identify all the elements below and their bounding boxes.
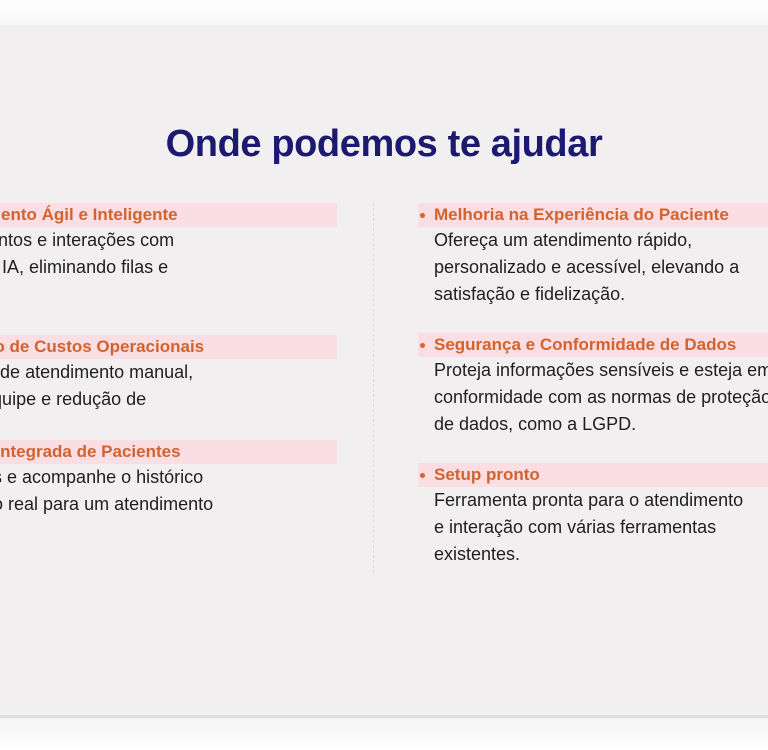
list-item: Segurança e Conformidade de Dados Protej… xyxy=(418,333,768,438)
page-bottom-edge xyxy=(0,718,768,750)
page-top-edge xyxy=(0,0,768,25)
right-column: Melhoria na Experiência do Paciente Ofer… xyxy=(418,203,768,568)
block-heading: Melhoria na Experiência do Paciente xyxy=(418,203,768,227)
block-heading: Segurança e Conformidade de Dados xyxy=(418,333,768,357)
block-heading-text: Segurança e Conformidade de Dados xyxy=(434,335,736,354)
block-body-text: endamentos e interações com meio de IA, … xyxy=(0,227,337,308)
page-title: Onde podemos te ajudar xyxy=(0,123,768,166)
block-heading: Atendimento Ágil e Inteligente xyxy=(0,203,337,227)
block-heading-text: Setup pronto xyxy=(434,465,540,484)
block-body-text: ssidade de atendimento manual, so da equ… xyxy=(0,359,337,413)
block-heading-text: Atendimento Ágil e Inteligente xyxy=(0,205,178,224)
round-bullet-icon xyxy=(420,473,425,478)
list-item: Setup pronto Ferramenta pronta para o at… xyxy=(418,463,768,568)
block-body-text: Proteja informações sensíveis e esteja e… xyxy=(418,357,768,438)
slide-viewport: Onde podemos te ajudar Atendimento Ágil … xyxy=(0,0,768,750)
list-item: Gestão Integrada de Pacientes rmações e … xyxy=(0,440,337,518)
block-body-text: Ferramenta pronta para o atendimento e i… xyxy=(418,487,768,568)
list-item: Redução de Custos Operacionais ssidade d… xyxy=(0,335,337,413)
block-body-text: Ofereça um atendimento rápido, personali… xyxy=(418,227,768,308)
block-body-text: rmações e acompanhe o histórico m tempo … xyxy=(0,464,337,518)
block-heading-text: Gestão Integrada de Pacientes xyxy=(0,442,181,461)
presentation-slide: Onde podemos te ajudar Atendimento Ágil … xyxy=(0,25,768,715)
list-item: Atendimento Ágil e Inteligente endamento… xyxy=(0,203,337,308)
column-divider xyxy=(373,203,374,573)
block-heading: Setup pronto xyxy=(418,463,768,487)
block-heading-text: Melhoria na Experiência do Paciente xyxy=(434,205,729,224)
two-column-content: Atendimento Ágil e Inteligente endamento… xyxy=(0,203,768,583)
list-item: Melhoria na Experiência do Paciente Ofer… xyxy=(418,203,768,308)
block-heading: Gestão Integrada de Pacientes xyxy=(0,440,337,464)
round-bullet-icon xyxy=(420,213,425,218)
left-column: Atendimento Ágil e Inteligente endamento… xyxy=(0,203,337,518)
round-bullet-icon xyxy=(420,343,425,348)
block-heading-text: Redução de Custos Operacionais xyxy=(0,337,204,356)
block-heading: Redução de Custos Operacionais xyxy=(0,335,337,359)
